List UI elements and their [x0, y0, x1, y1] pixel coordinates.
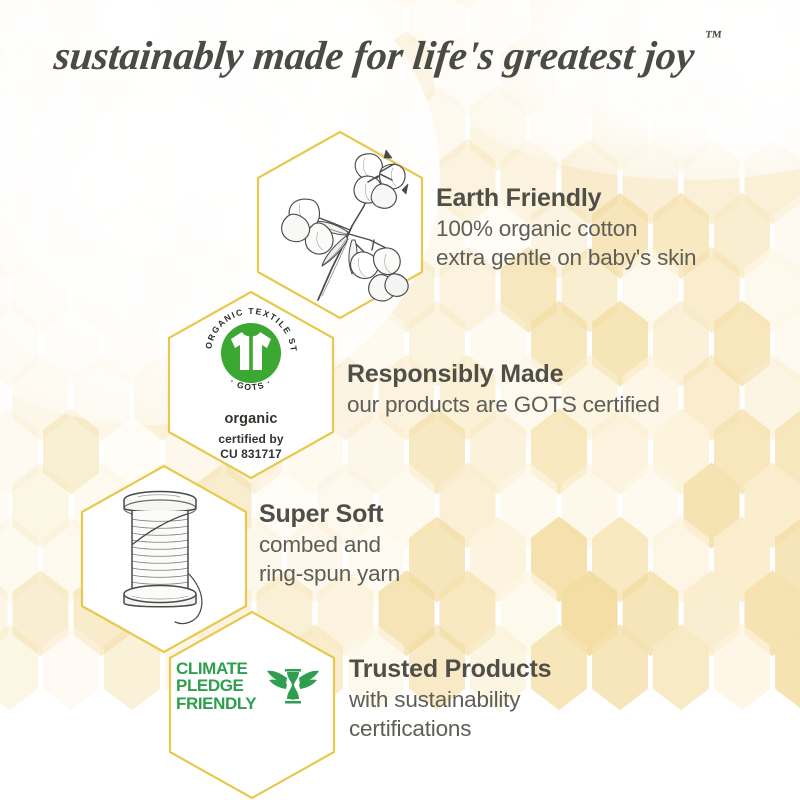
trademark-symbol: ™ — [703, 27, 722, 46]
infographic-canvas: sustainably made for life's greatest joy… — [0, 0, 800, 800]
gots-seal: GLOBAL ORGANIC TEXTILE STANDARD · GOTS · — [195, 296, 307, 408]
cpf-wordmark: CLIMATE PLEDGE FRIENDLY — [176, 660, 256, 712]
tagline-text: sustainably made for life's greatest joy — [51, 33, 698, 78]
feature-title: Earth Friendly — [436, 184, 696, 214]
gots-certifier-code: CU 831717 — [218, 447, 283, 462]
winged-hourglass-icon — [266, 661, 320, 711]
feature-title: Responsibly Made — [347, 360, 660, 390]
feature-text-trusted-products: Trusted Products with sustainability cer… — [349, 655, 551, 743]
headline: sustainably made for life's greatest joy… — [0, 22, 800, 92]
feature-line: 100% organic cotton — [436, 214, 696, 243]
feature-line: ring-spun yarn — [259, 559, 400, 588]
feature-text-earth-friendly: Earth Friendly 100% organic cotton extra… — [436, 184, 696, 272]
feature-title: Trusted Products — [349, 655, 551, 685]
gots-organic-label: organic — [224, 411, 277, 427]
feature-line: extra gentle on baby's skin — [436, 243, 696, 272]
gots-certification-icon: GLOBAL ORGANIC TEXTILE STANDARD · GOTS ·… — [163, 296, 339, 463]
climate-pledge-friendly-icon: CLIMATE PLEDGE FRIENDLY — [176, 660, 320, 712]
feature-line: with sustainability — [349, 685, 551, 714]
tagline-script-art: sustainably made for life's greatest joy… — [50, 22, 750, 92]
gots-certified-by-label: certified by — [218, 432, 283, 447]
cpf-line-2: PLEDGE — [176, 677, 244, 694]
cpf-line-3: FRIENDLY — [176, 695, 256, 712]
feature-line: our products are GOTS certified — [347, 390, 660, 419]
feature-title: Super Soft — [259, 500, 400, 530]
gots-certified-by: certified by CU 831717 — [218, 432, 283, 463]
feature-text-responsibly-made: Responsibly Made our products are GOTS c… — [347, 360, 660, 419]
feature-line: certifications — [349, 714, 551, 743]
feature-line: combed and — [259, 530, 400, 559]
feature-text-super-soft: Super Soft combed and ring-spun yarn — [259, 500, 400, 588]
cpf-line-1: CLIMATE — [176, 660, 247, 677]
